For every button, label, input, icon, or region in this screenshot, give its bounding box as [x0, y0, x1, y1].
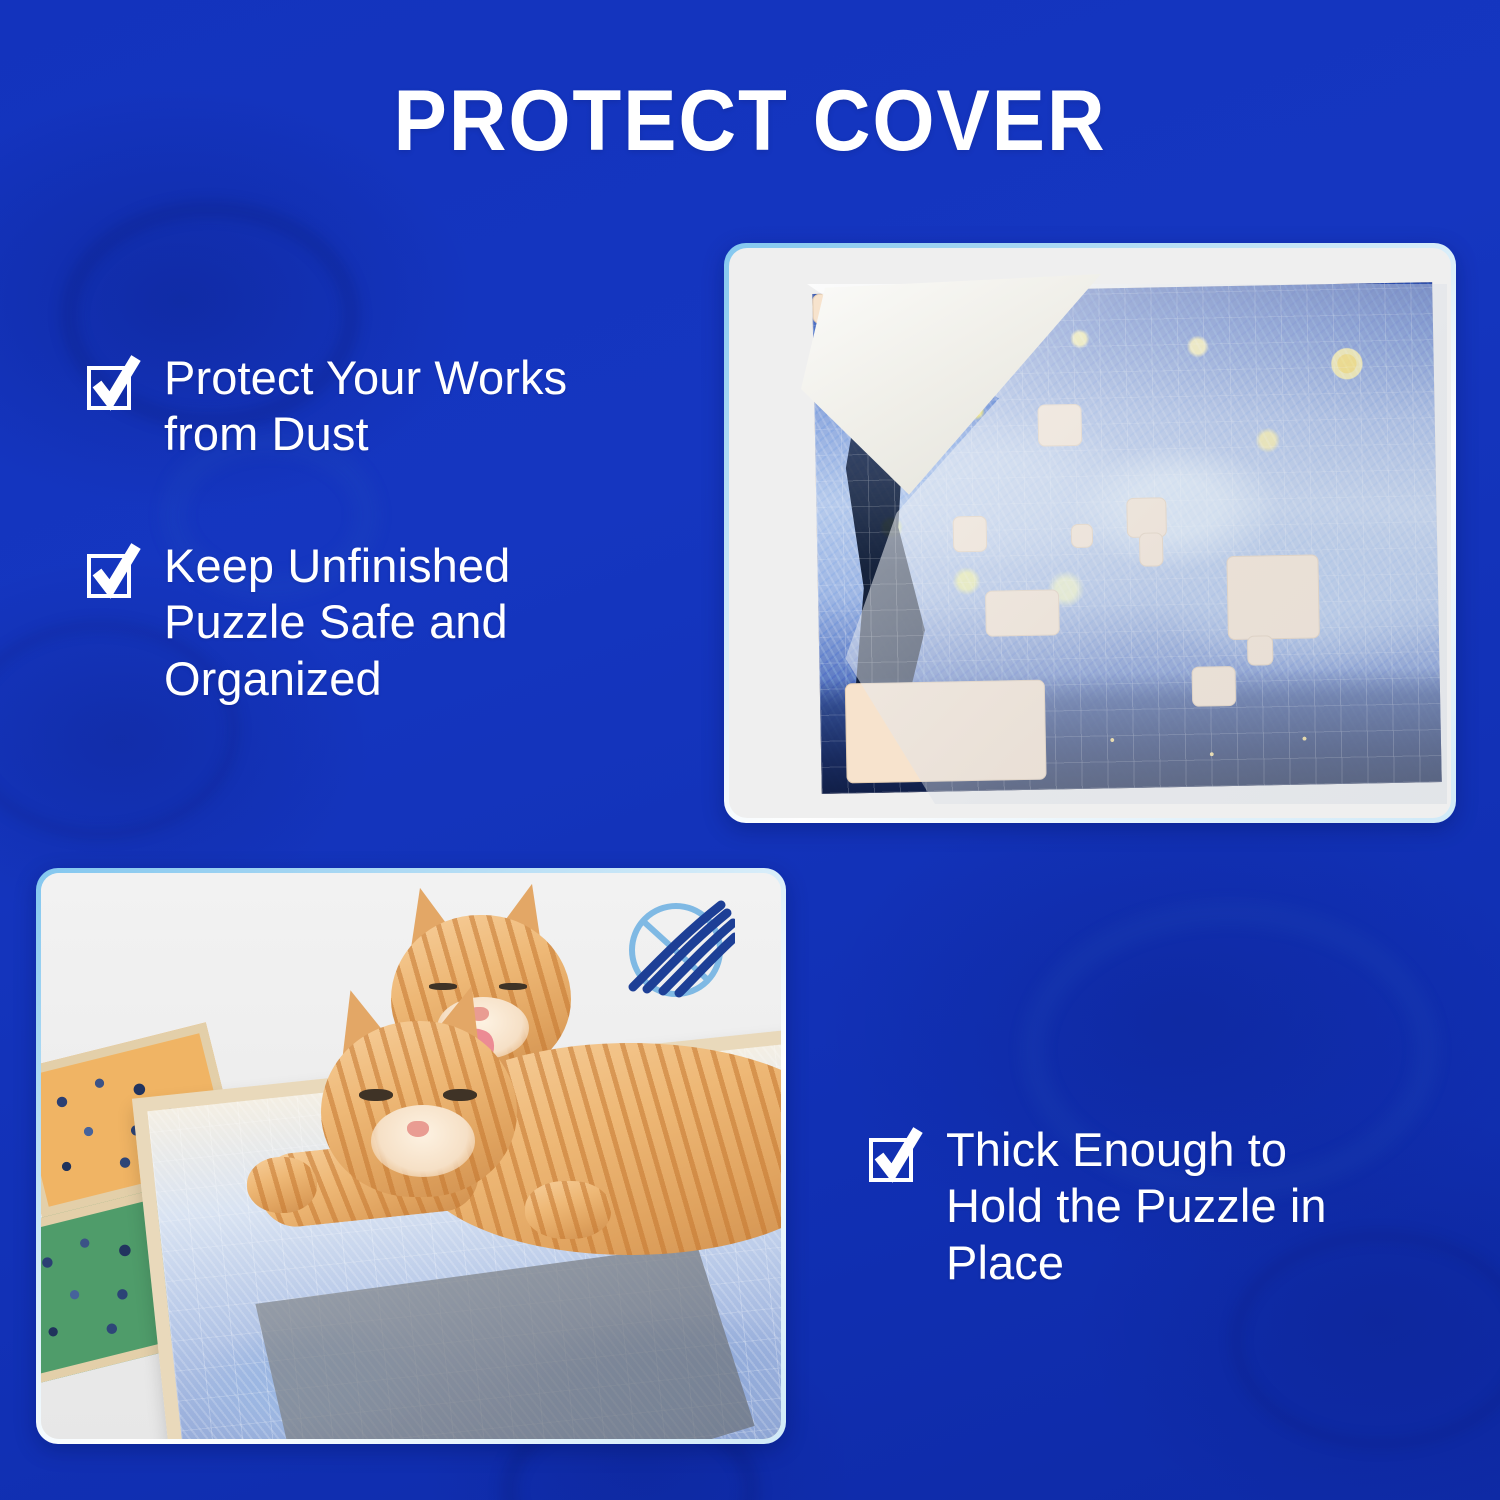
page-title: PROTECT COVER: [53, 78, 1448, 164]
scratch-resistant-icon: [617, 891, 735, 1009]
feature-label: Thick Enough to Hold the Puzzle in Place: [946, 1122, 1327, 1291]
feature-item-protect-from-dust: Protect Your Works from Dust: [86, 350, 706, 463]
kitten-bottom: [225, 985, 781, 1285]
feature-item-thick-enough: Thick Enough to Hold the Puzzle in Place: [868, 1122, 1468, 1291]
missing-piece-gap: [1191, 666, 1236, 707]
feature-label: Protect Your Works from Dust: [164, 350, 567, 463]
missing-piece-gap: [1247, 635, 1274, 665]
photo-frame: [41, 873, 781, 1439]
infographic-canvas: PROTECT COVER Protect Your Works from Du…: [0, 0, 1500, 1500]
photo-frame: [729, 248, 1451, 818]
missing-piece-gap: [1139, 532, 1164, 566]
missing-piece-gap: [845, 680, 1047, 784]
kittens-on-puzzle-photo-card: [36, 868, 786, 1444]
feature-item-keep-safe-organized: Keep Unfinished Puzzle Safe and Organize…: [86, 538, 706, 707]
missing-piece-gap: [1038, 404, 1083, 447]
kitten-eye: [443, 1089, 477, 1101]
kitten-nose: [407, 1121, 429, 1137]
checkbox-checked-icon: [868, 1128, 920, 1184]
missing-piece-gap: [1227, 554, 1321, 640]
missing-piece-gap: [1071, 524, 1093, 548]
missing-piece-gap: [953, 516, 988, 553]
kitten-paw: [247, 1157, 317, 1213]
puzzle-cover-photo-card: [724, 243, 1456, 823]
checkbox-checked-icon: [86, 356, 138, 412]
missing-piece-gap: [985, 589, 1060, 636]
kitten-eye: [359, 1089, 393, 1101]
kitten-muzzle: [371, 1105, 475, 1177]
checkbox-checked-icon: [86, 544, 138, 600]
photo-background: [41, 873, 781, 1439]
feature-label: Keep Unfinished Puzzle Safe and Organize…: [164, 538, 510, 707]
kitten-paw: [525, 1181, 611, 1239]
